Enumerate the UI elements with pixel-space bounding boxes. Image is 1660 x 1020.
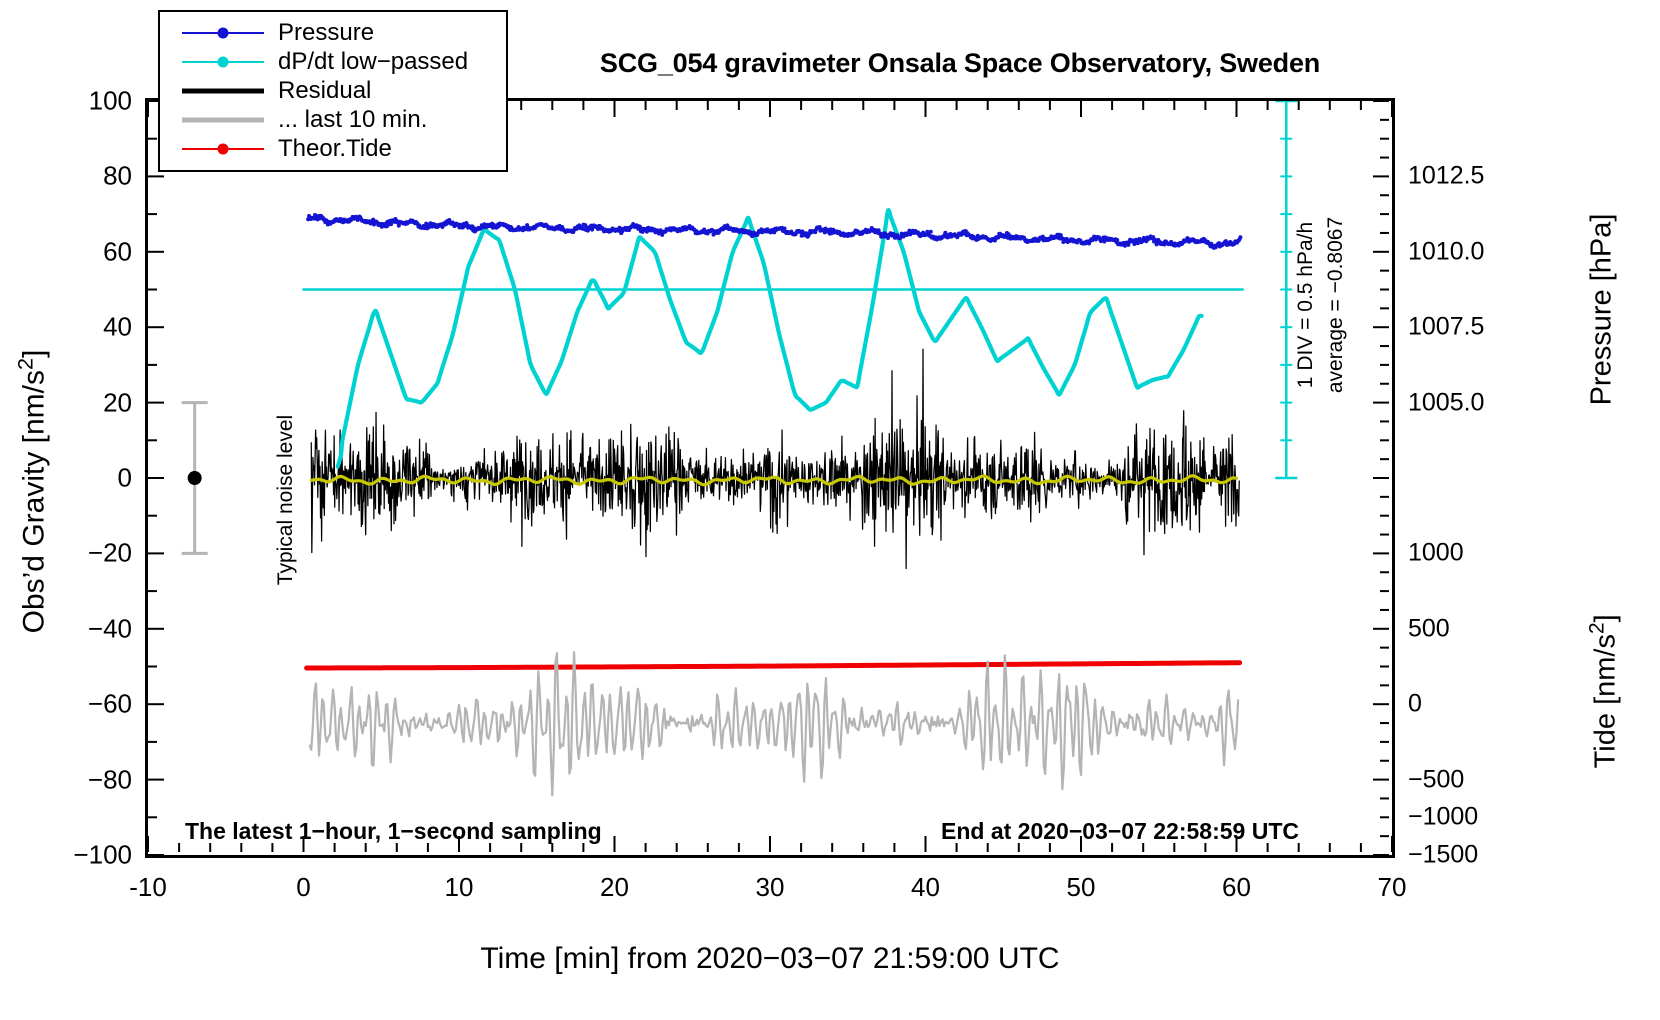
- tide-tick-label: 0: [1408, 690, 1422, 719]
- pressure-tick-label: 1012.5: [1408, 162, 1484, 191]
- tide-tick-label: −1500: [1408, 841, 1478, 870]
- legend-label: Pressure: [264, 19, 374, 47]
- y-tick-label: −60: [88, 689, 132, 720]
- pressure-tick-label: 1005.0: [1408, 388, 1484, 417]
- legend-label: Theor.Tide: [264, 135, 392, 163]
- y-tick-label: 60: [103, 236, 132, 267]
- legend-marker-icon: [218, 27, 229, 38]
- legend-swatch-icon: [182, 110, 264, 130]
- x-tick-label: 70: [1378, 872, 1407, 903]
- x-tick-label: 0: [296, 872, 310, 903]
- x-axis-title: Time [min] from 2020−03−07 21:59:00 UTC: [145, 942, 1395, 976]
- y-axis-right-tide-title: Tide [nm/s2]: [1586, 581, 1623, 801]
- series-dpdt-lowpassed: [338, 210, 1202, 467]
- x-tick-label: 50: [1067, 872, 1096, 903]
- x-tick-label: 20: [600, 872, 629, 903]
- annotation-div-scale: 1 DIV = 0.5 hPa/h: [1294, 185, 1318, 425]
- pressure-tick-label: 1007.5: [1408, 313, 1484, 342]
- legend-swatch-icon: [182, 81, 264, 101]
- plot-area: [145, 98, 1395, 858]
- pressure-tick-label: 1010.0: [1408, 237, 1484, 266]
- y-axis-right-pressure-title: Pressure [hPa]: [1586, 170, 1619, 450]
- annotation-sampling-note: The latest 1−hour, 1−second sampling: [185, 818, 602, 845]
- legend: PressuredP/dt low−passedResidual... last…: [158, 10, 508, 172]
- series-last-10-min: [310, 652, 1238, 795]
- x-tick-label: -10: [129, 872, 167, 903]
- y-tick-label: 100: [89, 86, 132, 117]
- tide-tick-label: 1000: [1408, 539, 1464, 568]
- y-tick-label: −100: [73, 840, 132, 871]
- series-residual: [311, 349, 1239, 568]
- y-tick-label: 40: [103, 312, 132, 343]
- x-tick-label: 30: [756, 872, 785, 903]
- legend-label: ... last 10 min.: [264, 106, 427, 134]
- legend-item: dP/dt low−passed: [160, 47, 506, 76]
- y-tick-label: 20: [103, 387, 132, 418]
- legend-swatch-icon: [182, 23, 264, 43]
- legend-swatch-icon: [182, 139, 264, 159]
- chart-title: SCG_054 gravimeter Onsala Space Observat…: [520, 48, 1400, 79]
- legend-item: ... last 10 min.: [160, 105, 506, 134]
- y-tick-label: −20: [88, 538, 132, 569]
- tide-tick-label: 500: [1408, 614, 1450, 643]
- y-axis-left-title: Obs’d Gravity [nm/s2]: [13, 282, 52, 702]
- y-axis-right-ticks: 1012.51010.01007.51005.010005000−500−100…: [1408, 0, 1568, 1020]
- plot-canvas: [148, 101, 1392, 855]
- legend-marker-icon: [218, 56, 229, 67]
- annotation-noise-level: Typical noise level: [274, 385, 298, 615]
- y-tick-label: 80: [103, 161, 132, 192]
- tide-tick-label: −500: [1408, 765, 1464, 794]
- annotation-average: average = −0.8067: [1324, 185, 1348, 425]
- gravimeter-chart-page: SCG_054 gravimeter Onsala Space Observat…: [0, 0, 1660, 1020]
- annotation-end-time: End at 2020−03−07 22:58:59 UTC: [941, 818, 1299, 845]
- legend-label: dP/dt low−passed: [264, 48, 468, 76]
- x-tick-label: 40: [911, 872, 940, 903]
- legend-swatch-icon: [182, 52, 264, 72]
- y-tick-label: −80: [88, 764, 132, 795]
- series-pressure: [306, 213, 1242, 250]
- legend-marker-icon: [218, 143, 229, 154]
- series-theor-tide: [307, 663, 1240, 668]
- y-tick-label: 0: [118, 463, 132, 494]
- legend-item: Pressure: [160, 18, 506, 47]
- tide-tick-label: −1000: [1408, 803, 1478, 832]
- y-tick-label: −40: [88, 613, 132, 644]
- x-tick-label: 10: [445, 872, 474, 903]
- legend-item: Residual: [160, 76, 506, 105]
- legend-label: Residual: [264, 77, 371, 105]
- x-tick-label: 60: [1222, 872, 1251, 903]
- legend-item: Theor.Tide: [160, 134, 506, 163]
